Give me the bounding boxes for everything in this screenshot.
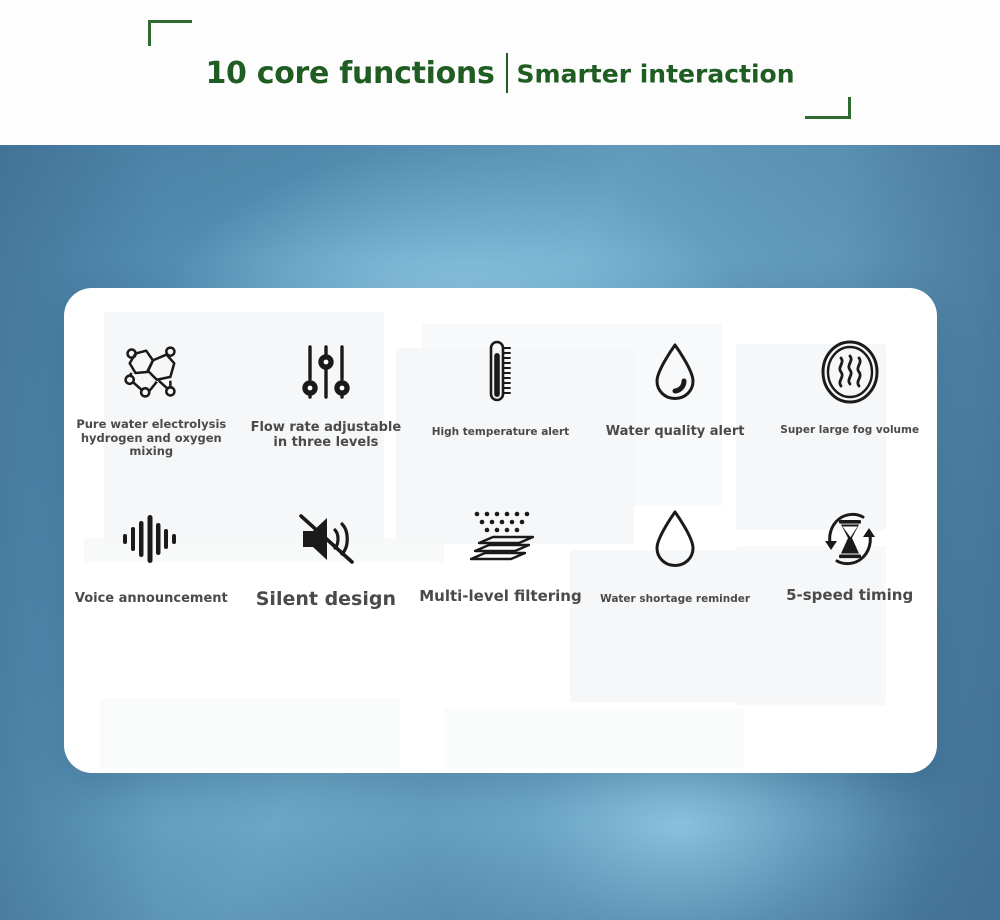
feature-label: Super large fog volume bbox=[780, 424, 919, 436]
feature-item-pure-water-electrolysis[interactable]: Pure water electrolysis hydrogen and oxy… bbox=[64, 336, 239, 459]
feature-row: Voice announcement Silent design bbox=[64, 503, 937, 610]
feature-label: Water quality alert bbox=[606, 424, 745, 439]
feature-item-super-large-fog-volume[interactable]: Super large fog volume bbox=[762, 336, 937, 459]
header-band: 10 core functionsSmarter interaction bbox=[0, 0, 1000, 145]
feature-item-water-shortage-reminder[interactable]: Water shortage reminder bbox=[588, 503, 763, 610]
feature-item-5-speed-timing[interactable]: 5-speed timing bbox=[762, 503, 937, 610]
background-panel-artifact bbox=[444, 708, 744, 768]
feature-label: Pure water electrolysis hydrogen and oxy… bbox=[76, 418, 226, 459]
feature-label: 5-speed timing bbox=[786, 587, 913, 605]
feature-row: Pure water electrolysis hydrogen and oxy… bbox=[64, 336, 937, 459]
page-title-sub: Smarter interaction bbox=[517, 60, 795, 89]
page-title-main: 10 core functions bbox=[205, 56, 494, 91]
molecule-icon bbox=[120, 336, 182, 408]
feature-label: Silent design bbox=[256, 588, 396, 610]
feature-item-voice-announcement[interactable]: Voice announcement bbox=[64, 503, 239, 610]
page-title: 10 core functionsSmarter interaction bbox=[0, 54, 1000, 94]
feature-label: Multi-level filtering bbox=[419, 588, 581, 606]
feature-item-water-quality-alert[interactable]: Water quality alert bbox=[588, 336, 763, 459]
feature-item-multi-level-filtering[interactable]: Multi-level filtering bbox=[413, 503, 588, 610]
filter-layers-icon bbox=[463, 503, 537, 575]
fog-steam-icon bbox=[820, 336, 880, 408]
feature-label: Water shortage reminder bbox=[600, 593, 750, 605]
feature-label: High temperature alert bbox=[432, 426, 569, 438]
water-drop-filled-icon bbox=[652, 336, 698, 408]
feature-item-flow-rate-adjustable[interactable]: Flow rate adjustable in three levels bbox=[239, 336, 414, 459]
title-divider bbox=[506, 53, 508, 93]
feature-grid: Pure water electrolysis hydrogen and oxy… bbox=[64, 336, 937, 610]
feature-card: Pure water electrolysis hydrogen and oxy… bbox=[64, 288, 937, 773]
speaker-mute-icon bbox=[295, 503, 357, 575]
feature-label: Voice announcement bbox=[75, 591, 228, 606]
background-panel-artifact bbox=[100, 698, 400, 768]
corner-bracket-top-left-icon bbox=[148, 20, 192, 46]
hourglass-cycle-icon bbox=[818, 503, 882, 575]
feature-item-silent-design[interactable]: Silent design bbox=[239, 503, 414, 610]
corner-bracket-bottom-right-icon bbox=[805, 97, 851, 119]
sound-wave-icon bbox=[122, 503, 180, 575]
feature-label: Flow rate adjustable in three levels bbox=[251, 420, 402, 451]
sliders-icon bbox=[301, 336, 351, 408]
thermometer-icon bbox=[485, 336, 515, 408]
water-drop-empty-icon bbox=[652, 503, 698, 575]
feature-item-high-temperature-alert[interactable]: High temperature alert bbox=[413, 336, 588, 459]
